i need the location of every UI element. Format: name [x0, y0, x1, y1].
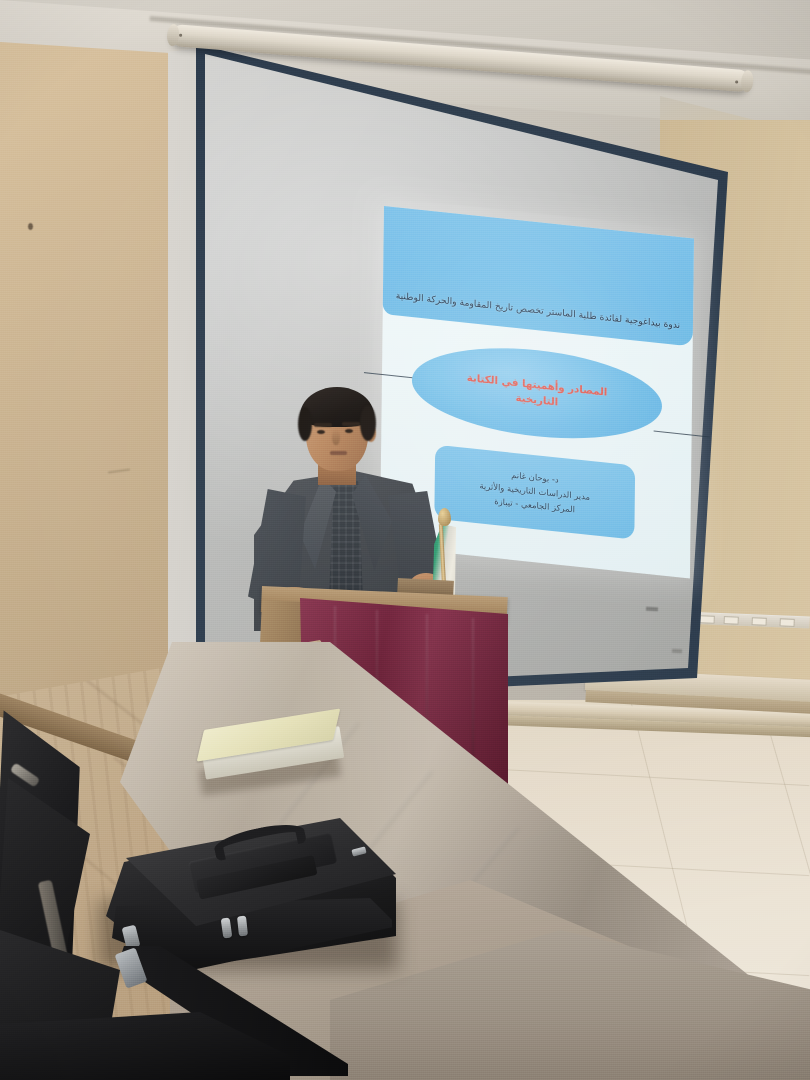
- presenter-eyebrow: [314, 423, 332, 427]
- wall-outlet[interactable]: [700, 615, 715, 624]
- housing-screw: [179, 34, 182, 37]
- photo-scene: ندوة بيداغوجية لفائدة طلبة الماستر تخصص …: [0, 0, 810, 1080]
- flag-finial: [438, 508, 451, 526]
- presenter-eyebrow: [342, 422, 360, 426]
- laptop-bag-zipper-pull[interactable]: [237, 916, 248, 937]
- presenter-mouth: [330, 451, 347, 455]
- wall-outlet[interactable]: [752, 617, 767, 626]
- wall-mark: [28, 223, 33, 230]
- presenter-hair-side: [360, 405, 376, 441]
- housing-end-cap: [166, 24, 180, 47]
- wall-outlet[interactable]: [780, 618, 795, 627]
- presenter-eye: [345, 429, 353, 433]
- presenter-eye: [317, 430, 325, 434]
- presenter-nose: [332, 429, 340, 445]
- housing-screw: [735, 80, 738, 83]
- wall-outlet[interactable]: [724, 616, 739, 625]
- screen-hook: [646, 607, 658, 612]
- presenter-hair-side: [298, 407, 312, 441]
- screen-hook: [672, 649, 682, 654]
